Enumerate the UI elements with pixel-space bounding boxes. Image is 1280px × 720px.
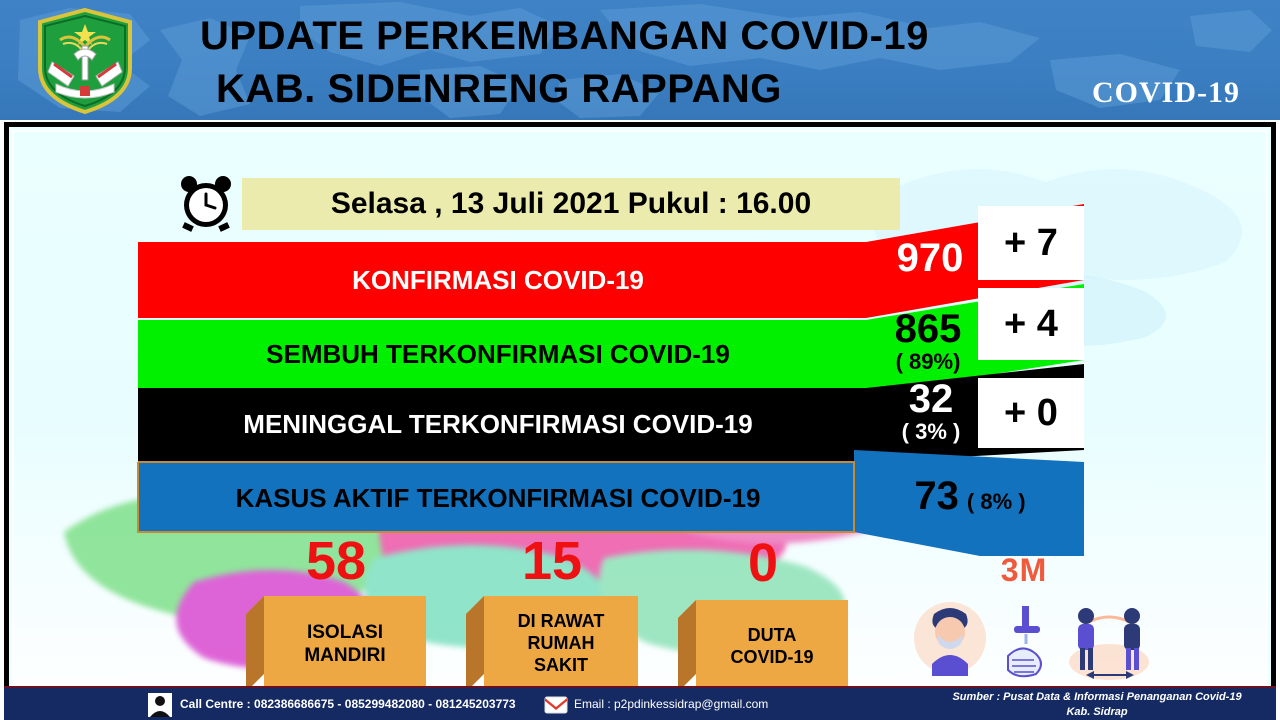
gmail-icon: [544, 693, 568, 717]
covid-infographic-poster: UPDATE PERKEMBANGAN COVID-19 KAB. SIDENR…: [0, 0, 1280, 720]
stat-label-kasus-aktif: KASUS AKTIF TERKONFIRMASI COVID-19: [142, 466, 854, 530]
stat-label-konfirmasi: KONFIRMASI COVID-19: [142, 248, 854, 312]
protocol-illustrations: [904, 580, 1154, 690]
poster-title-line-2: KAB. SIDENRENG RAPPANG: [216, 68, 1030, 111]
stat-label-meninggal: MENINGGAL TERKONFIRMASI COVID-19: [142, 392, 854, 456]
covid-brand-label: COVID-19: [1092, 76, 1240, 110]
mask-person-icon: [914, 602, 986, 676]
stat-value-kasus-aktif: 73 ( 8% ): [880, 476, 1060, 526]
stat-value-sembuh: 865 ( 89%): [872, 308, 984, 374]
source-line-2: Kab. Sidrap: [932, 705, 1262, 720]
delta-badge-meninggal: + 0: [978, 378, 1084, 448]
box-line-2: MANDIRI: [304, 645, 385, 668]
contact-person-icon: [148, 693, 172, 717]
delta-badge-konfirmasi: + 7: [978, 206, 1084, 280]
stat-value-konfirmasi: 970: [880, 232, 980, 284]
stat-percent: ( 3% ): [902, 421, 961, 443]
email-text: Email : p2pdinkessidrap@gmail.com: [574, 697, 768, 711]
box-di-rawat-rumah-sakit: 15 DI RAWAT RUMAH SAKIT: [466, 592, 638, 692]
poster-title-line-1: UPDATE PERKEMBANGAN COVID-19: [200, 15, 1030, 58]
box-line-1: DI RAWAT: [518, 611, 605, 633]
box-isolasi-mandiri: 58 ISOLASI MANDIRI: [246, 592, 426, 692]
source-line-1: Sumber : Pusat Data & Informasi Penangan…: [932, 690, 1262, 705]
source-attribution: Sumber : Pusat Data & Informasi Penangan…: [932, 690, 1262, 720]
box-number: 0: [678, 532, 848, 594]
stat-percent: ( 89%): [896, 351, 961, 373]
box-line-3: SAKIT: [534, 655, 588, 677]
handwash-faucet-icon: [1008, 606, 1041, 676]
box-line-1: ISOLASI: [307, 622, 383, 645]
box-line-1: DUTA: [748, 624, 797, 647]
social-distance-icon: [1069, 608, 1149, 680]
poster-frame: Selasa , 13 Juli 2021 Pukul : 16.00 + 7: [4, 122, 1276, 716]
header-title-block: UPDATE PERKEMBANGAN COVID-19 KAB. SIDENR…: [200, 8, 1030, 118]
poster-footer: Call Centre : 082386686675 - 08529948208…: [4, 686, 1276, 720]
box-number: 15: [466, 530, 638, 592]
poster-header: UPDATE PERKEMBANGAN COVID-19 KAB. SIDENR…: [0, 0, 1280, 120]
box-duta-covid-19: 0 DUTA COVID-19: [678, 596, 848, 692]
box-line-2: RUMAH: [528, 633, 595, 655]
poster-canvas: Selasa , 13 Juli 2021 Pukul : 16.00 + 7: [12, 130, 1268, 708]
kabupaten-emblem-icon: [30, 6, 140, 116]
stat-number: 865: [895, 309, 962, 349]
call-centre-text: Call Centre : 082386686675 - 08529948208…: [180, 697, 516, 711]
delta-value: + 4: [1004, 303, 1058, 346]
stat-label-sembuh: SEMBUH TERKONFIRMASI COVID-19: [142, 322, 854, 386]
box-line-2: COVID-19: [730, 646, 813, 669]
delta-badge-sembuh: + 4: [978, 288, 1084, 360]
stat-percent: ( 8% ): [967, 491, 1026, 513]
protocol-3m-block: 3M: [904, 552, 1154, 692]
delta-value: + 7: [1004, 222, 1058, 265]
box-number: 58: [246, 530, 426, 592]
stat-number: 32: [909, 379, 954, 419]
stat-value-meninggal: 32 ( 3% ): [878, 378, 984, 444]
stat-number: 73: [914, 476, 959, 516]
delta-value: + 0: [1004, 392, 1058, 435]
